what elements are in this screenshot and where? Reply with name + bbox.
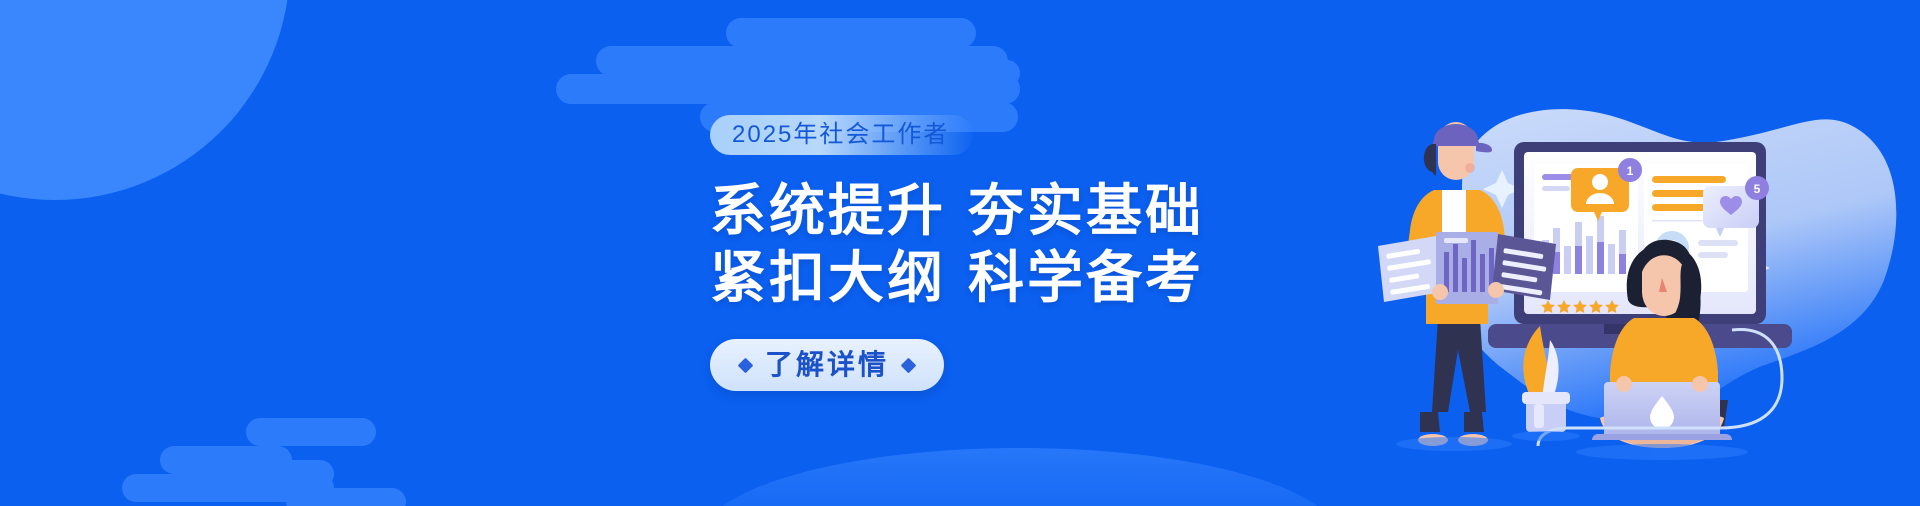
heart-notification-count: 5 — [1754, 182, 1761, 196]
headline-line-1: 系统提升夯实基础 — [710, 177, 1330, 244]
promo-banner: 2025年社会工作者 系统提升夯实基础 紧扣大纲科学备考 了解详情 — [0, 0, 1920, 506]
user-notification-count: 1 — [1627, 164, 1634, 178]
subtitle-badge-label: 2025年社会工作者 — [732, 123, 949, 147]
headline-line-2-part-a: 紧扣大纲 — [710, 246, 946, 309]
headline-line-2-part-b: 科学备考 — [968, 246, 1204, 309]
headline-line-1-part-a: 系统提升 — [710, 179, 946, 242]
subtitle-badge: 2025年社会工作者 — [710, 115, 973, 155]
hero-illustration: 1 5 — [1376, 0, 1856, 506]
learn-more-button[interactable]: 了解详情 — [710, 339, 944, 391]
headline-line-2: 紧扣大纲科学备考 — [710, 244, 1330, 311]
banner-content: 2025年社会工作者 系统提升夯实基础 紧扣大纲科学备考 了解详情 — [710, 0, 1330, 506]
learn-more-button-label: 了解详情 — [765, 351, 889, 379]
headline-line-1-part-b: 夯实基础 — [968, 179, 1204, 242]
diamond-icon-left — [738, 357, 754, 373]
diamond-icon-right — [901, 357, 917, 373]
